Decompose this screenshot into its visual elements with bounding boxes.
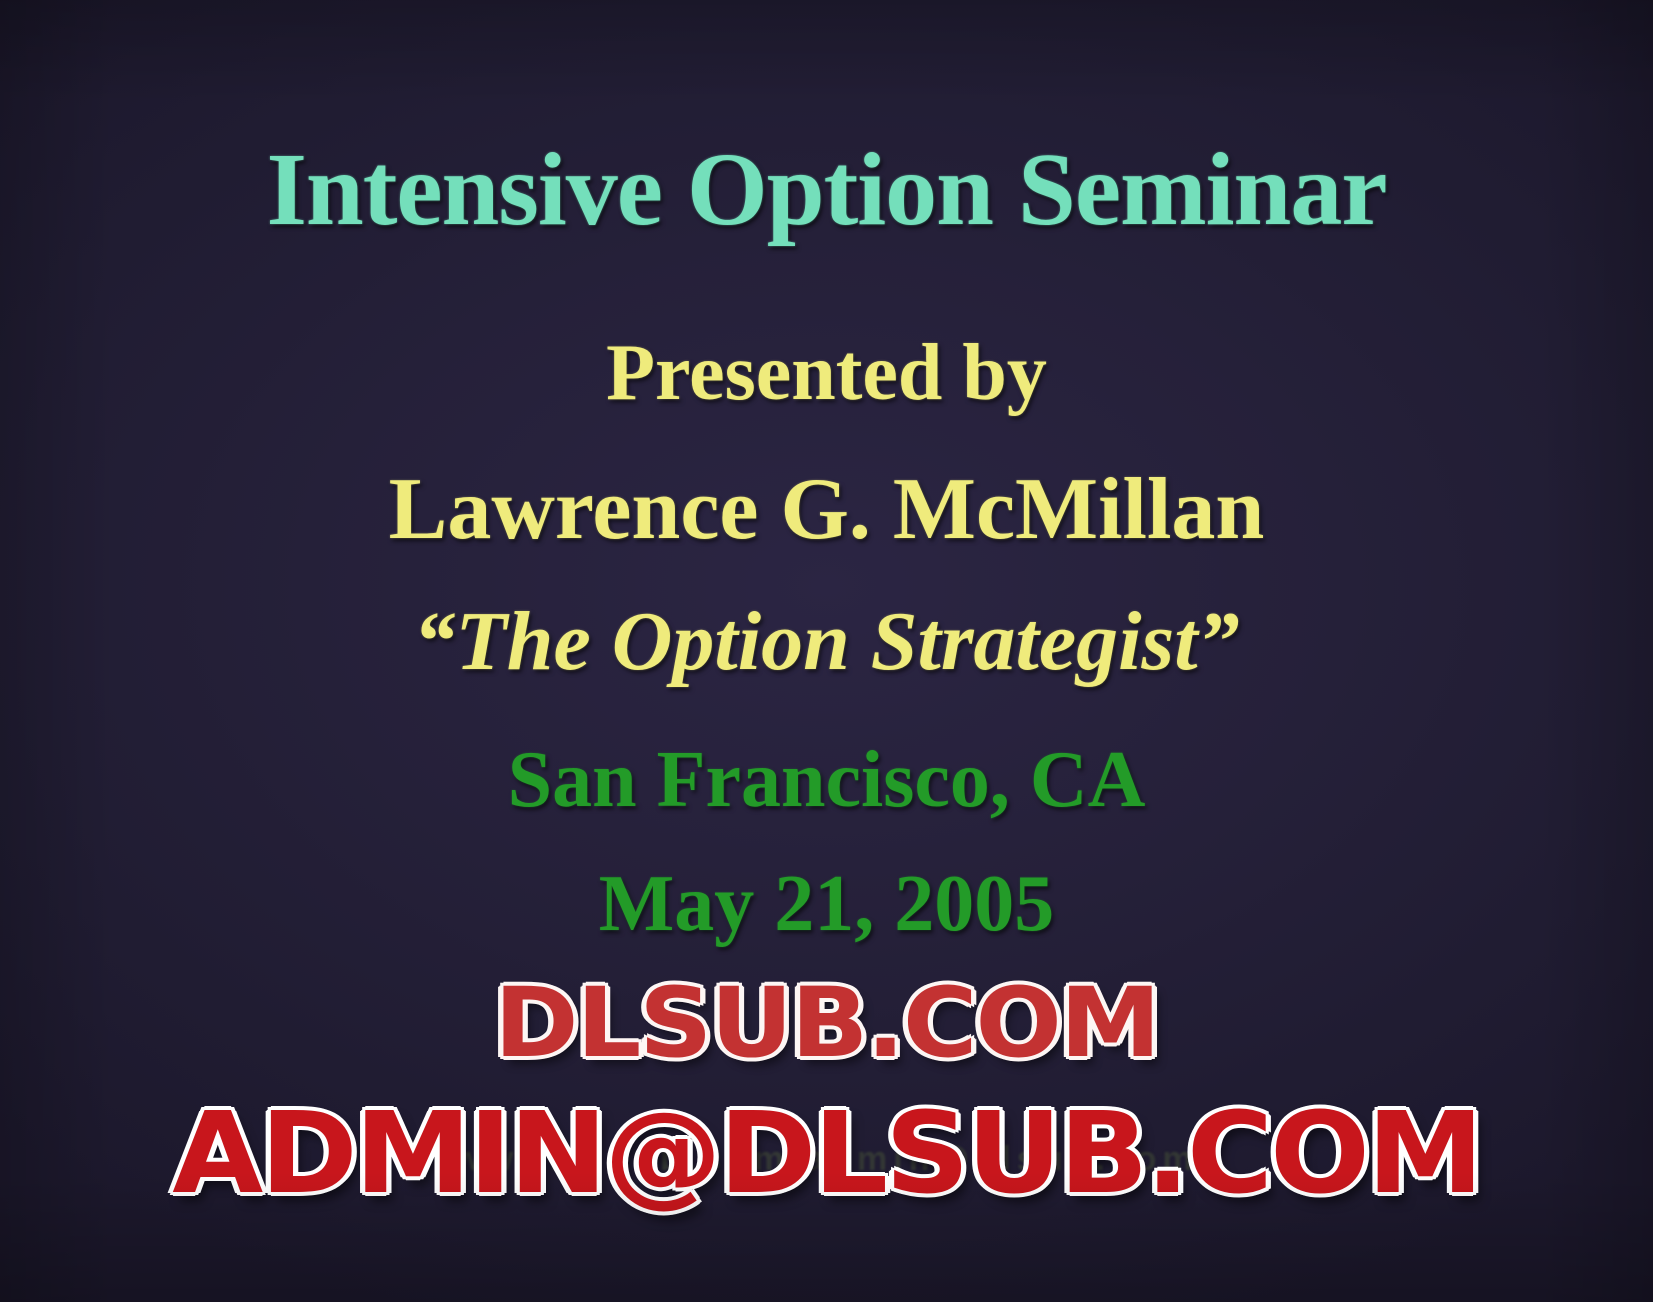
slide-title: Intensive Option Seminar [0,138,1653,242]
presenter-name: Lawrence G. McMillan [0,466,1653,554]
watermark-contact-email: ADMIN@DLSUB.COM [0,1098,1653,1210]
seminar-date: May 21, 2005 [0,864,1653,944]
watermark-site-url: DLSUB.COM [0,975,1653,1071]
presenter-nickname: “The Option Strategist” [0,600,1653,684]
presented-by-label: Presented by [0,333,1653,413]
seminar-location: San Francisco, CA [0,740,1653,820]
video-title-slide: Intensive Option Seminar Presented by La… [0,0,1653,1302]
